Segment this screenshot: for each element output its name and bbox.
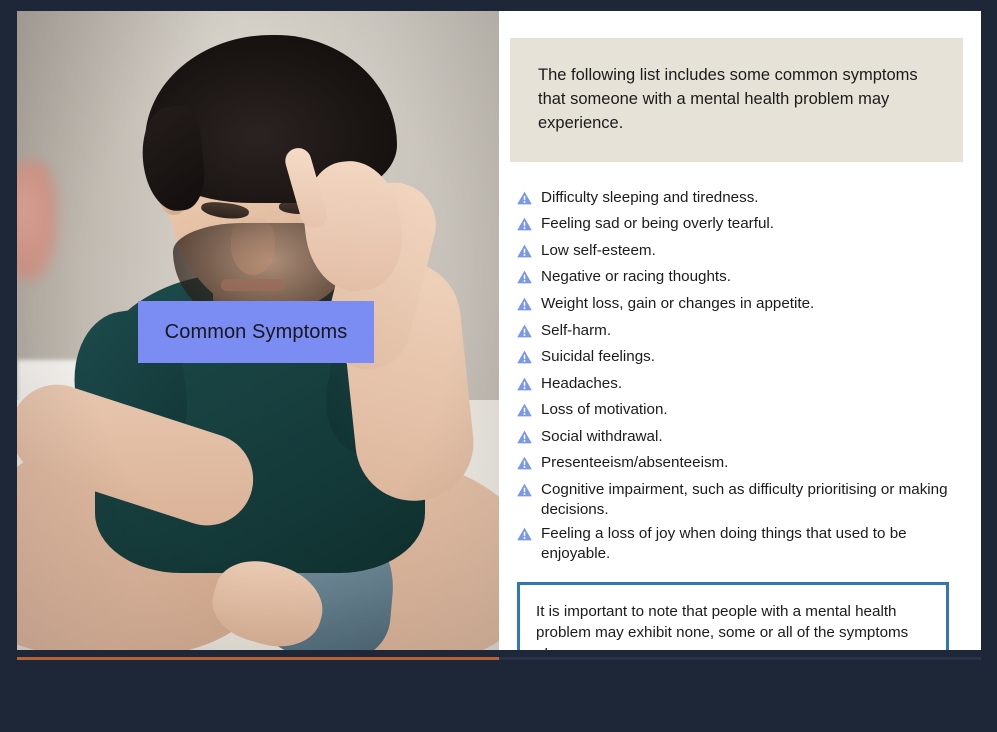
symptom-list-item: Cognitive impairment, such as difficulty… <box>517 480 956 520</box>
symptom-list-item: Low self-esteem. <box>517 241 956 264</box>
course-player: Common Symptoms The following list inclu… <box>0 0 997 732</box>
warning-triangle-icon <box>517 270 532 290</box>
symptom-list-item: Difficulty sleeping and tiredness. <box>517 188 956 211</box>
symptom-list-item: Loss of motivation. <box>517 400 956 423</box>
important-note-box: It is important to note that people with… <box>517 582 949 650</box>
slide-title-overlay: Common Symptoms <box>138 301 374 363</box>
symptom-list: Difficulty sleeping and tiredness.Feelin… <box>510 188 956 564</box>
symptom-list-item: Negative or racing thoughts. <box>517 267 956 290</box>
important-note-text: It is important to note that people with… <box>536 603 908 650</box>
symptom-text: Suicidal feelings. <box>541 347 655 367</box>
symptom-list-item: Suicidal feelings. <box>517 347 956 370</box>
intro-callout: The following list includes some common … <box>510 38 963 162</box>
warning-triangle-icon <box>517 350 532 370</box>
warning-triangle-icon <box>517 191 532 211</box>
symptom-text: Negative or racing thoughts. <box>541 267 731 287</box>
progress-bar-track <box>17 657 981 660</box>
symptom-list-item: Feeling sad or being overly tearful. <box>517 214 956 237</box>
symptom-text: Self-harm. <box>541 321 611 341</box>
slide-stage: Common Symptoms The following list inclu… <box>17 11 981 650</box>
symptom-text: Feeling a loss of joy when doing things … <box>541 524 956 564</box>
player-toolbar: Page 12 of 24 | 50% Completed ‹ Prev Nex… <box>0 662 997 732</box>
intro-text: The following list includes some common … <box>538 66 918 132</box>
warning-triangle-icon <box>517 403 532 423</box>
warning-triangle-icon <box>517 324 532 344</box>
warning-triangle-icon <box>517 483 532 503</box>
warning-triangle-icon <box>517 430 532 450</box>
warning-triangle-icon <box>517 244 532 264</box>
symptom-text: Feeling sad or being overly tearful. <box>541 214 774 234</box>
warning-triangle-icon <box>517 297 532 317</box>
symptom-list-item: Feeling a loss of joy when doing things … <box>517 524 956 564</box>
warning-triangle-icon <box>517 377 532 397</box>
symptom-text: Social withdrawal. <box>541 427 663 447</box>
slide-text-panel: The following list includes some common … <box>499 11 981 650</box>
symptom-list-item: Headaches. <box>517 374 956 397</box>
symptom-text: Headaches. <box>541 374 622 394</box>
symptom-list-item: Weight loss, gain or changes in appetite… <box>517 294 956 317</box>
symptom-list-item: Self-harm. <box>517 321 956 344</box>
warning-triangle-icon <box>517 456 532 476</box>
slide-title-text: Common Symptoms <box>165 321 348 344</box>
symptom-text: Low self-esteem. <box>541 241 656 261</box>
slide-image-panel: Common Symptoms <box>17 11 499 650</box>
warning-triangle-icon <box>517 527 532 547</box>
symptom-text: Weight loss, gain or changes in appetite… <box>541 294 814 314</box>
symptom-list-item: Social withdrawal. <box>517 427 956 450</box>
warning-triangle-icon <box>517 217 532 237</box>
symptom-list-item: Presenteeism/absenteeism. <box>517 453 956 476</box>
symptom-text: Difficulty sleeping and tiredness. <box>541 188 759 208</box>
progress-bar-fill <box>17 657 499 660</box>
symptom-text: Cognitive impairment, such as difficulty… <box>541 480 956 520</box>
symptom-text: Presenteeism/absenteeism. <box>541 453 728 473</box>
symptom-text: Loss of motivation. <box>541 400 668 420</box>
